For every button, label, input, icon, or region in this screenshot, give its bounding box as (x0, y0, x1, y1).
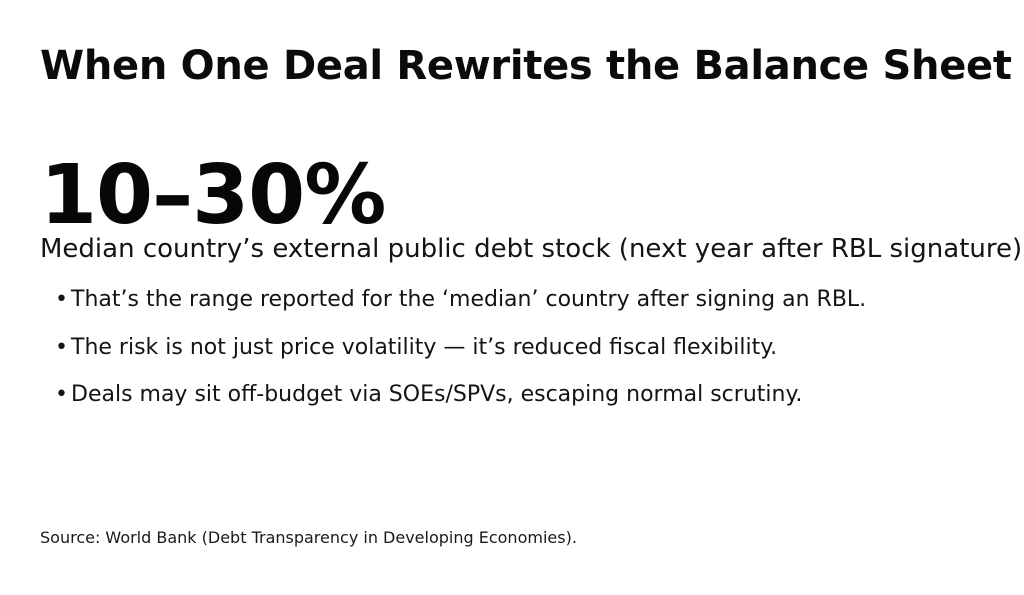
bullet-dot-icon: • (55, 288, 68, 313)
page-title: When One Deal Rewrites the Balance Sheet (40, 45, 1000, 87)
list-item-text: That’s the range reported for the ‘media… (71, 287, 866, 312)
key-statistic-block: 10–30% Median country’s external public … (40, 158, 1010, 265)
bullet-dot-icon: • (55, 336, 68, 361)
bullet-dot-icon: • (55, 383, 68, 408)
list-item: • Deals may sit off-budget via SOEs/SPVs… (55, 383, 995, 408)
stat-caption: Median country’s external public debt st… (40, 235, 1010, 265)
list-item-text: The risk is not just price volatility — … (71, 335, 777, 360)
list-item: • The risk is not just price volatility … (55, 336, 995, 361)
bullet-list: • That’s the range reported for the ‘med… (55, 288, 995, 408)
slide-canvas: When One Deal Rewrites the Balance Sheet… (0, 0, 1024, 595)
stat-value: 10–30% (40, 158, 1010, 233)
list-item: • That’s the range reported for the ‘med… (55, 288, 995, 313)
source-note: Source: World Bank (Debt Transparency in… (40, 528, 577, 547)
list-item-text: Deals may sit off-budget via SOEs/SPVs, … (71, 382, 802, 407)
